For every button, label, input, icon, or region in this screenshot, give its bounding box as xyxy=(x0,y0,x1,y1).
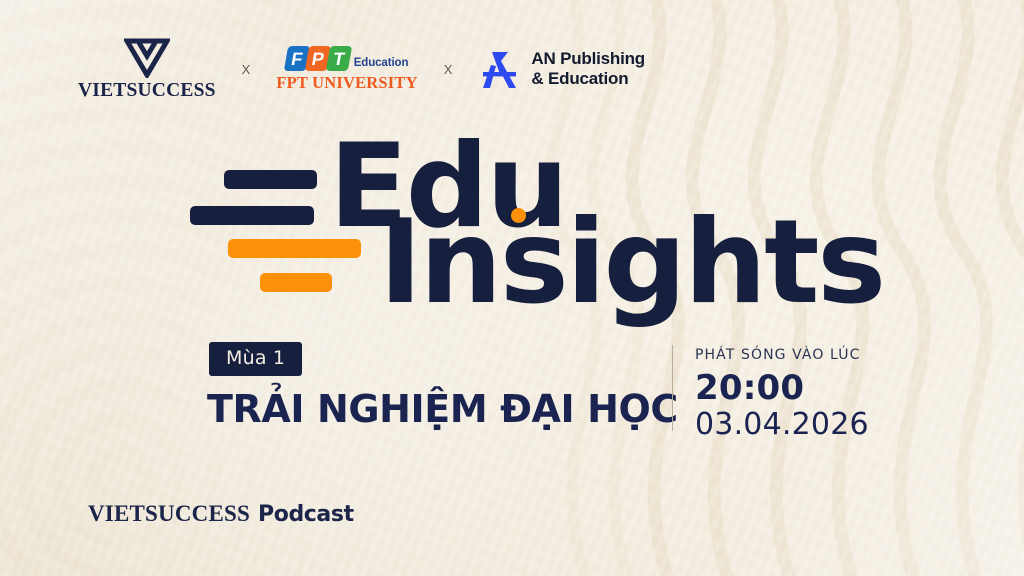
footer-podcast-label: Podcast xyxy=(258,504,354,526)
poster-canvas: VIETSUCCESS X F P T Education FPT UNIVER… xyxy=(0,0,1024,576)
airtime-date: 03.04.2026 xyxy=(695,408,869,441)
airtime-time: 20:00 xyxy=(695,370,869,407)
footer-brand-lockup: VIETSUCCESS Podcast xyxy=(88,502,354,526)
an-publishing-line1: AN Publishing xyxy=(531,49,645,69)
fpt-university-wordmark: FPT UNIVERSITY xyxy=(276,75,417,92)
an-publishing-wordmark: AN Publishing & Education xyxy=(531,49,645,88)
partner-logo-strip: VIETSUCCESS X F P T Education FPT UNIVER… xyxy=(78,34,645,104)
season-badge: Mùa 1 xyxy=(209,342,302,376)
navy-bar-1 xyxy=(224,170,317,189)
an-publishing-logo: AN Publishing & Education xyxy=(478,48,645,90)
footer-vietsuccess-wordmark: VIETSUCCESS xyxy=(88,502,250,525)
vietsuccess-logo: VIETSUCCESS xyxy=(78,38,216,101)
edu-insights-logo: Edu Insights xyxy=(186,148,786,310)
orange-bar-2 xyxy=(260,273,332,292)
fpt-education-label: Education xyxy=(354,58,409,72)
partner-separator-2: X xyxy=(438,63,459,76)
an-publishing-line2: & Education xyxy=(531,69,645,89)
airtime-block: PHÁT SÓNG VÀO LÚC 20:00 03.04.2026 xyxy=(672,345,869,431)
fpt-logo-row: F P T Education xyxy=(286,46,409,71)
vietsuccess-v-monogram-icon xyxy=(124,38,170,78)
fpt-letter-blocks-icon: F P T xyxy=(286,46,349,71)
navy-bar-2 xyxy=(190,206,314,225)
fpt-university-logo: F P T Education FPT UNIVERSITY xyxy=(276,46,417,92)
partner-separator-1: X xyxy=(236,63,257,76)
airtime-label: PHÁT SÓNG VÀO LÚC xyxy=(695,348,869,362)
an-publishing-a-mark-icon xyxy=(478,48,522,90)
insights-wordmark: Insights xyxy=(379,210,884,317)
show-title: TRẢI NGHIỆM ĐẠI HỌC xyxy=(207,390,678,430)
vietsuccess-wordmark: VIETSUCCESS xyxy=(78,81,216,101)
fpt-letter-t: T xyxy=(325,46,351,71)
